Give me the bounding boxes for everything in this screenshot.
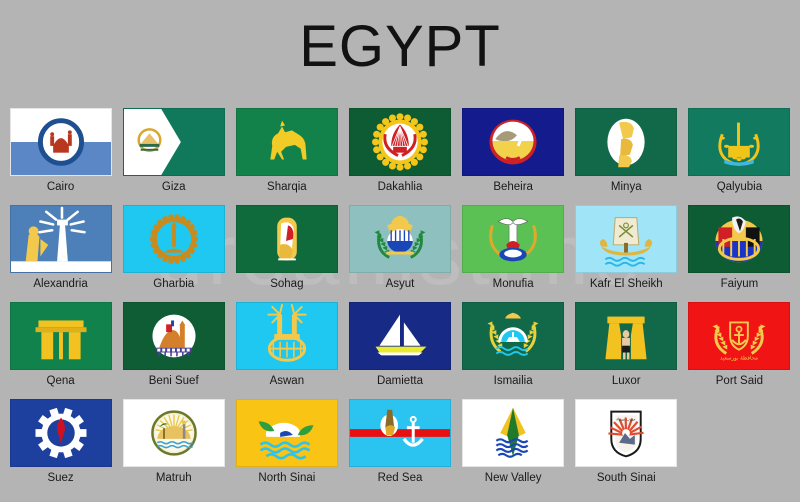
- svg-text:محافظة بورسعيد: محافظة بورسعيد: [720, 355, 758, 361]
- flag-caption: Sharqia: [267, 180, 307, 194]
- flag-luxor[interactable]: [575, 302, 677, 370]
- flag-north-sinai[interactable]: [236, 399, 338, 467]
- flag-cell: Gharbia: [117, 205, 230, 302]
- flag-cell: Suez: [4, 399, 117, 496]
- flag-cell: Qena: [4, 302, 117, 399]
- flag-beheira[interactable]: [462, 108, 564, 176]
- flag-sohag[interactable]: [236, 205, 338, 273]
- cairo-mosque-roundel-icon: [11, 109, 111, 175]
- flag-cairo[interactable]: [10, 108, 112, 176]
- flag-faiyum[interactable]: [688, 205, 790, 273]
- flag-caption: Gharbia: [153, 277, 194, 291]
- flag-damietta[interactable]: [349, 302, 451, 370]
- flag-caption: Sohag: [270, 277, 303, 291]
- flag-cell: Asyut: [343, 205, 456, 302]
- flag-port-said[interactable]: محافظة بورسعيد: [688, 302, 790, 370]
- flag-caption: New Valley: [485, 471, 542, 485]
- flag-caption: Beni Suef: [149, 374, 199, 388]
- flag-minya[interactable]: [575, 108, 677, 176]
- redsea-anchor-stripe-icon: [350, 400, 450, 466]
- benisuef-obelisk-roundel-icon: [124, 303, 224, 369]
- flag-caption: South Sinai: [597, 471, 656, 485]
- flag-grid: CairoGizaSharqiaDakahliaBeheiraMinyaQaly…: [0, 108, 800, 496]
- dakahlia-gear-wheat-icon: [350, 109, 450, 175]
- flag-cell: Alexandria: [4, 205, 117, 302]
- faiyum-eagle-waterwheel-icon: [689, 206, 789, 272]
- page-title: EGYPT: [0, 10, 800, 84]
- flag-caption: Red Sea: [378, 471, 423, 485]
- flag-sharqia[interactable]: [236, 108, 338, 176]
- flag-monufia[interactable]: [462, 205, 564, 273]
- flag-cell: North Sinai: [230, 399, 343, 496]
- aswan-dam-sunburst-icon: [237, 303, 337, 369]
- flag-beni-suef[interactable]: [123, 302, 225, 370]
- flag-south-sinai[interactable]: جنوب سيناء: [575, 399, 677, 467]
- alexandria-lighthouse-icon: [11, 206, 111, 272]
- ismailia-ship-canal-icon: [463, 303, 563, 369]
- flag-qena[interactable]: [10, 302, 112, 370]
- flag-cell: Giza: [117, 108, 230, 205]
- flag-matruh[interactable]: [123, 399, 225, 467]
- beheira-globe-gear-icon: [463, 109, 563, 175]
- suez-gear-flame-icon: [11, 400, 111, 466]
- flag-cell: Beni Suef: [117, 302, 230, 399]
- flag-caption: Alexandria: [33, 277, 87, 291]
- flag-caption: Faiyum: [721, 277, 759, 291]
- kafr-boat-sail-icon: [576, 206, 676, 272]
- flag-alexandria[interactable]: [10, 205, 112, 273]
- sohag-vase-emblem-icon: [237, 206, 337, 272]
- flag-aswan[interactable]: [236, 302, 338, 370]
- flag-ismailia[interactable]: [462, 302, 564, 370]
- flag-cell: Matruh: [117, 399, 230, 496]
- flag-caption: Suez: [47, 471, 73, 485]
- flag-caption: Minya: [611, 180, 642, 194]
- flag-dakahlia[interactable]: [349, 108, 451, 176]
- flag-giza[interactable]: [123, 108, 225, 176]
- gharbia-gear-minaret-icon: [124, 206, 224, 272]
- flag-caption: Matruh: [156, 471, 192, 485]
- flag-caption: Aswan: [270, 374, 305, 388]
- flag-cell: Ismailia: [457, 302, 570, 399]
- qalyubia-bridge-wreath-icon: [689, 109, 789, 175]
- flag-cell: Faiyum: [683, 205, 796, 302]
- flag-caption: Port Said: [716, 374, 763, 388]
- flag-cell: Kafr El Sheikh: [570, 205, 683, 302]
- flag-cell: Cairo: [4, 108, 117, 205]
- flag-caption: Beheira: [493, 180, 533, 194]
- flag-qalyubia[interactable]: [688, 108, 790, 176]
- luxor-pylon-figure-icon: [576, 303, 676, 369]
- flag-cell: Aswan: [230, 302, 343, 399]
- flag-cell: محافظة بورسعيدPort Said: [683, 302, 796, 399]
- flag-cell: Sharqia: [230, 108, 343, 205]
- sharqia-horse-icon: [237, 109, 337, 175]
- northsinai-island-olive-icon: [237, 400, 337, 466]
- flag-cell: Beheira: [457, 108, 570, 205]
- flag-new-valley[interactable]: [462, 399, 564, 467]
- flag-cell: Damietta: [343, 302, 456, 399]
- qena-temple-gate-icon: [11, 303, 111, 369]
- flag-cell: Monufia: [457, 205, 570, 302]
- monufia-torch-wreath-icon: [463, 206, 563, 272]
- giza-pyramid-chevron-icon: [124, 109, 224, 175]
- flag-cell: Dakahlia: [343, 108, 456, 205]
- flag-kafr-el-sheikh[interactable]: [575, 205, 677, 273]
- flag-caption: Monufia: [493, 277, 534, 291]
- flag-cell: New Valley: [457, 399, 570, 496]
- flag-red-sea[interactable]: [349, 399, 451, 467]
- portsaid-anchor-shield-icon: محافظة بورسعيد: [689, 303, 789, 369]
- flag-caption: Cairo: [47, 180, 74, 194]
- flag-cell: Luxor: [570, 302, 683, 399]
- flag-caption: Qena: [47, 374, 75, 388]
- asyut-eagle-dome-icon: [350, 206, 450, 272]
- flag-asyut[interactable]: [349, 205, 451, 273]
- flag-cell: Minya: [570, 108, 683, 205]
- flag-caption: Giza: [162, 180, 186, 194]
- flag-caption: Kafr El Sheikh: [590, 277, 663, 291]
- flag-caption: Damietta: [377, 374, 423, 388]
- flag-caption: Qalyubia: [717, 180, 762, 194]
- matruh-sun-beach-roundel-icon: [124, 400, 224, 466]
- flag-caption: Ismailia: [494, 374, 533, 388]
- flag-gharbia[interactable]: [123, 205, 225, 273]
- minya-pharaoh-bust-icon: [576, 109, 676, 175]
- flag-cell: جنوب سيناءSouth Sinai: [570, 399, 683, 496]
- newvalley-palm-waves-icon: [463, 400, 563, 466]
- flag-cell: Sohag: [230, 205, 343, 302]
- flag-cell: Qalyubia: [683, 108, 796, 205]
- damietta-sailboat-icon: [350, 303, 450, 369]
- flag-suez[interactable]: [10, 399, 112, 467]
- flag-caption: Luxor: [612, 374, 641, 388]
- flag-caption: Dakahlia: [378, 180, 423, 194]
- southsinai-shield-sun-icon: جنوب سيناء: [576, 400, 676, 466]
- flag-caption: Asyut: [386, 277, 415, 291]
- flag-caption: North Sinai: [258, 471, 315, 485]
- svg-text:جنوب سيناء: جنوب سيناء: [617, 416, 637, 421]
- flag-cell: Red Sea: [343, 399, 456, 496]
